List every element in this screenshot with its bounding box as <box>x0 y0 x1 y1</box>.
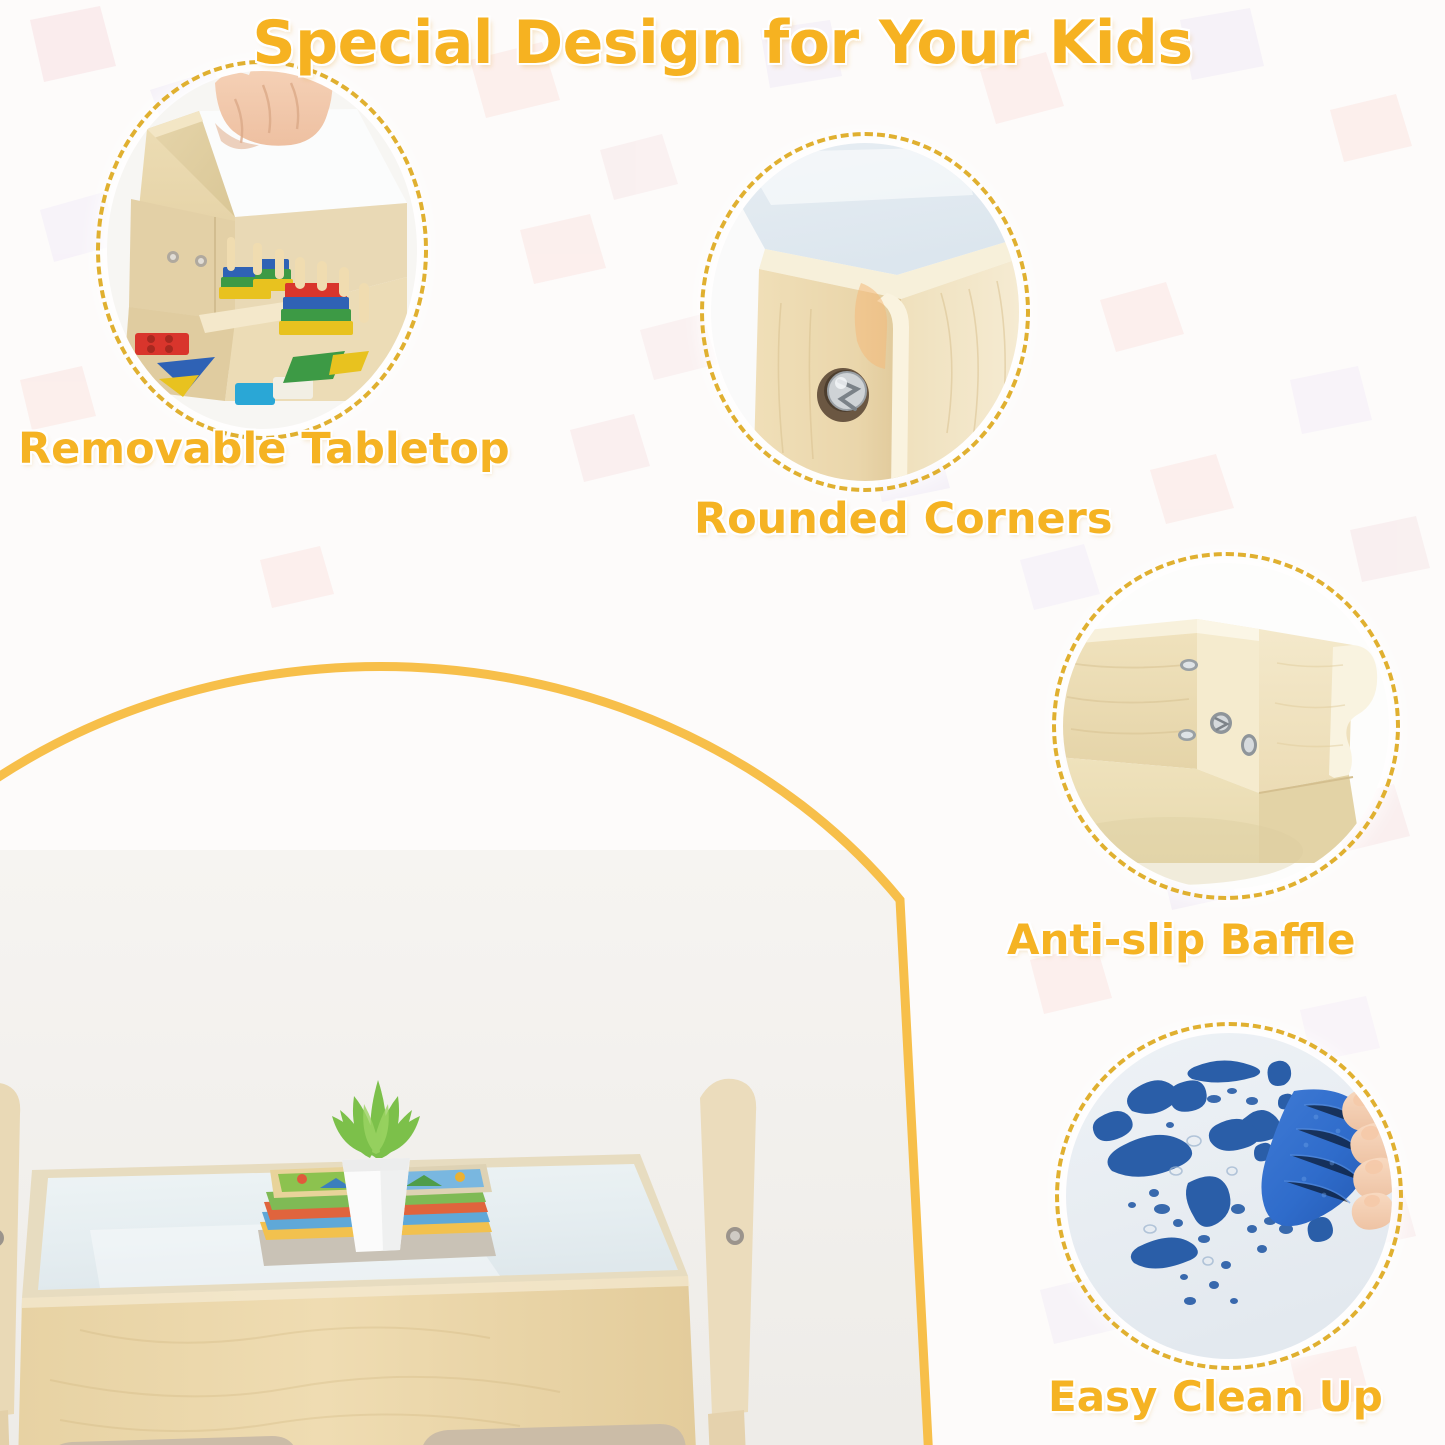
feature-label-easy-clean-up: Easy Clean Up <box>1048 1372 1383 1421</box>
feature-inset-rounded-corners <box>700 132 1030 492</box>
hand-lifting-tabletop-photo <box>107 71 417 429</box>
feature-inset-anti-slip-baffle <box>1052 552 1400 900</box>
infographic-canvas: Special Design for Your Kids <box>0 0 1445 1445</box>
wiping-cloth-photo <box>1066 1033 1392 1359</box>
feature-label-removable-tabletop: Removable Tabletop <box>18 424 510 474</box>
wood-baffle-ledge-photo <box>1063 563 1389 889</box>
feature-inset-removable-tabletop <box>96 60 428 440</box>
page-title: Special Design for Your Kids <box>0 8 1445 78</box>
feature-label-rounded-corners: Rounded Corners <box>694 494 1112 544</box>
feature-inset-easy-clean-up <box>1055 1022 1403 1370</box>
feature-label-anti-slip-baffle: Anti-slip Baffle <box>1007 915 1356 964</box>
main-product-photo <box>0 470 980 1445</box>
rounded-wood-corner-photo <box>711 143 1019 481</box>
